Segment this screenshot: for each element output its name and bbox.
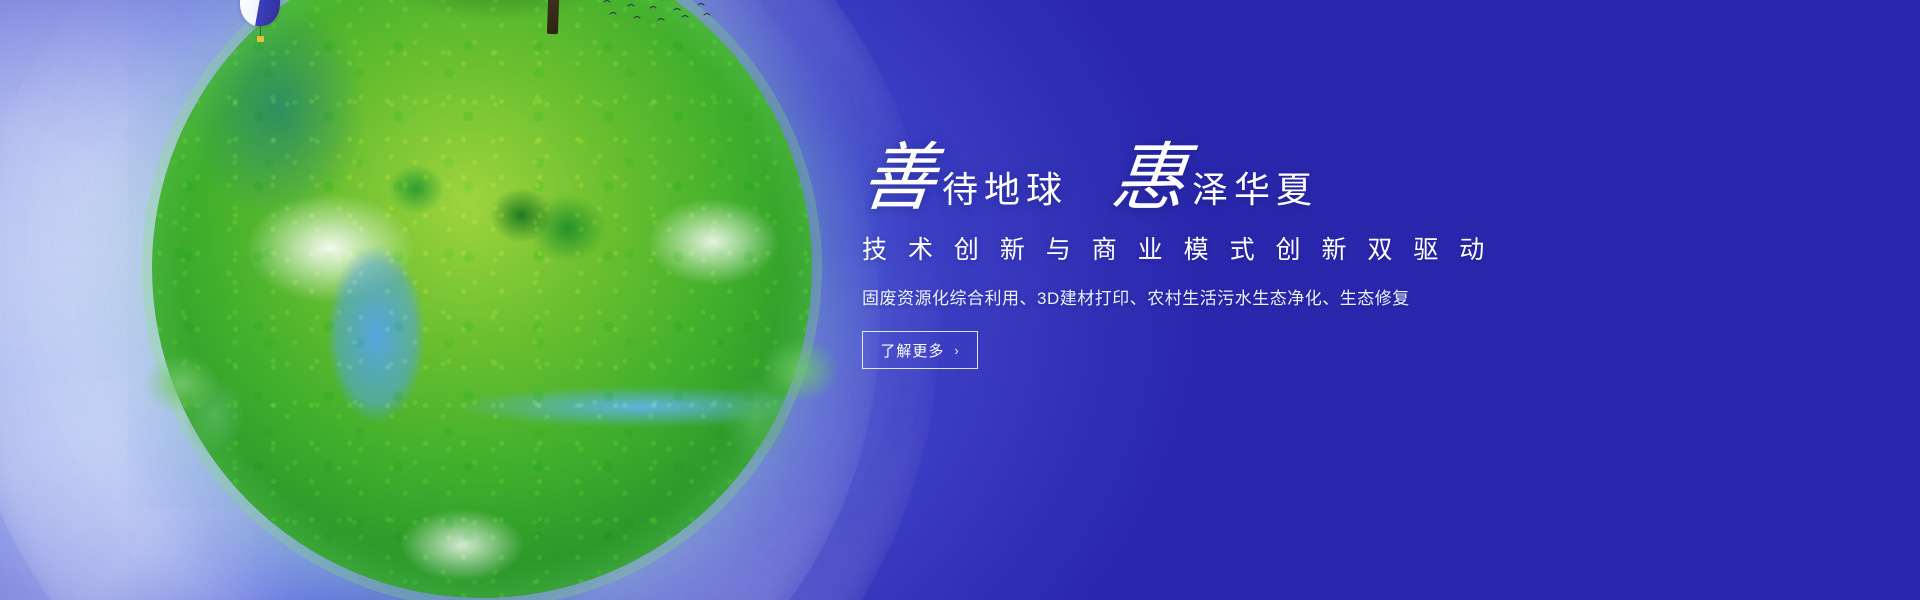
hot-air-balloon-icon: [240, 0, 282, 48]
balloon-basket: [257, 36, 264, 42]
learn-more-button[interactable]: 了解更多 ›: [862, 331, 978, 369]
chevron-right-icon: ›: [954, 343, 959, 358]
headline-char-hui: 惠: [1108, 144, 1189, 214]
side-tree-right-icon: [692, 298, 872, 478]
balloon-envelope: [240, 0, 280, 26]
cloud-swirl-inner: [0, 0, 880, 600]
headline-text-daidiqiu: 待地球: [936, 172, 1068, 214]
headline-char-shan: 善: [858, 144, 939, 214]
headline: 善 待地球 惠 泽华夏: [862, 128, 1622, 214]
hero-banner: 善 待地球 惠 泽华夏 技 术 创 新 与 商 业 模 式 创 新 双 驱 动 …: [0, 0, 1920, 600]
learn-more-label: 了解更多: [880, 340, 944, 361]
little-planet-illustration: [152, 0, 812, 598]
subtitle: 技 术 创 新 与 商 业 模 式 创 新 双 驱 动: [862, 230, 1622, 266]
headline-text-zehuaxia: 泽华夏: [1186, 172, 1318, 214]
balloon-rope: [260, 25, 261, 37]
tree-icon: [452, 0, 652, 30]
tree-trunk: [547, 0, 560, 34]
planet-globe-icon: [152, 0, 812, 598]
description: 固废资源化综合利用、3D建材打印、农村生活污水生态净化、生态修复: [862, 284, 1622, 309]
bird-flock-icon: [600, 0, 720, 28]
cloud-swirl-outer: [0, 0, 940, 600]
grass-texture: [152, 0, 812, 598]
hero-content: 善 待地球 惠 泽华夏 技 术 创 新 与 商 业 模 式 创 新 双 驱 动 …: [862, 128, 1622, 369]
side-tree-left-icon: [122, 328, 272, 468]
